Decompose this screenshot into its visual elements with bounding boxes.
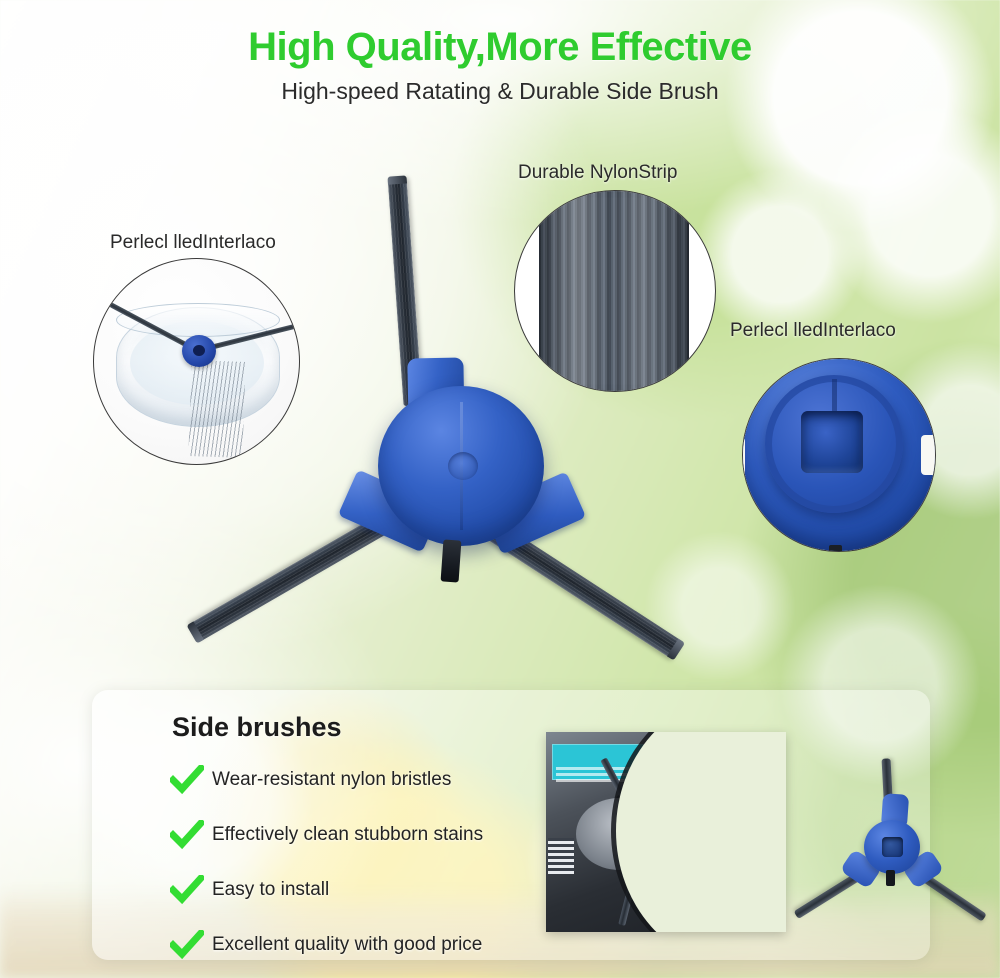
product-infographic: High Quality,More Effective High-speed R…	[0, 0, 1000, 978]
hub-outer-body	[742, 358, 936, 552]
check-icon	[170, 765, 204, 795]
photo-vacuum-underside	[546, 732, 786, 932]
inset-hub-socket	[742, 358, 936, 552]
feature-text: Effectively clean stubborn stains	[212, 824, 483, 846]
vacuum-body-edge	[616, 732, 786, 932]
brush-hub	[378, 386, 544, 546]
feature-item: Wear-resistant nylon bristles	[170, 758, 590, 802]
hub-shaft-stub	[829, 545, 842, 552]
feature-item: Easy to install	[170, 868, 590, 912]
standalone-brush-socket	[882, 837, 903, 857]
check-icon	[170, 930, 204, 960]
feature-text: Wear-resistant nylon bristles	[212, 769, 451, 791]
brush-shaft-stub	[441, 539, 462, 582]
panel-title: Side brushes	[172, 712, 342, 743]
hub-notch	[921, 435, 935, 475]
hub-spoke	[832, 379, 837, 413]
feature-text: Excellent quality with good price	[212, 934, 482, 956]
bristle-tip	[387, 175, 407, 184]
page-subtitle: High-speed Ratating & Durable Side Brush	[0, 78, 1000, 105]
standalone-brush-stub	[886, 870, 895, 886]
features-panel: Side brushes Wear-resistant nylon bristl…	[92, 690, 930, 960]
hub-square-socket	[801, 411, 863, 473]
check-icon	[170, 875, 204, 905]
feature-item: Excellent quality with good price	[170, 923, 590, 967]
header: High Quality,More Effective High-speed R…	[0, 26, 1000, 105]
page-title: High Quality,More Effective	[0, 26, 1000, 68]
hero-side-brush	[168, 168, 748, 638]
feature-text: Easy to install	[212, 879, 329, 901]
feature-item: Effectively clean stubborn stains	[170, 813, 590, 857]
hub-center-dimple	[448, 452, 478, 480]
standalone-brush-hub	[864, 820, 920, 874]
photo-standalone-brush	[782, 758, 1000, 948]
vacuum-contact-grill	[548, 838, 574, 874]
callout-label-right: Perlecl lledInterlaco	[730, 320, 896, 342]
feature-list: Wear-resistant nylon bristles Effectivel…	[170, 758, 590, 978]
check-icon	[170, 820, 204, 850]
